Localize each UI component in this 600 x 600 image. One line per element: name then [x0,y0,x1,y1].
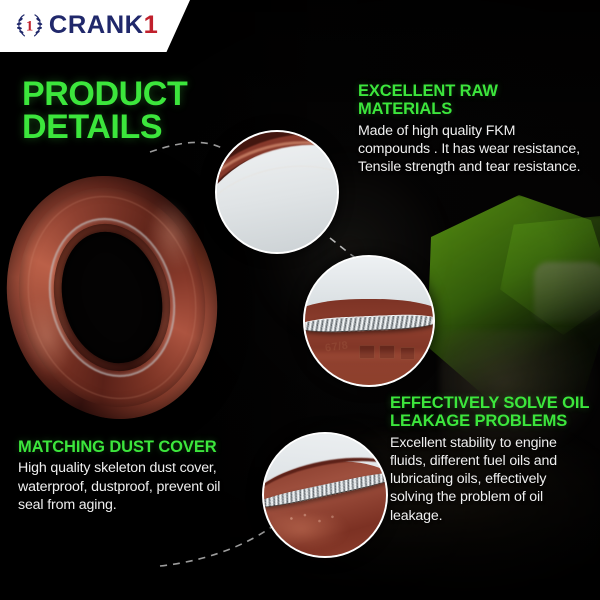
feature-heading: EFFECTIVELY SOLVE OIL LEAKAGE PROBLEMS [390,394,590,431]
feature-body: Excellent stability to engine fluids, di… [390,434,590,525]
laurel-wreath-number-one-icon: 1 [14,11,45,39]
feature-heading: MATCHING DUST COVER [18,438,236,456]
feature-effectively-solve-oil-leakage-problems: EFFECTIVELY SOLVE OIL LEAKAGE PROBLEMS E… [390,394,590,525]
callout-seal-lip [262,432,388,558]
feature-body: Made of high quality FKM compounds . It … [358,122,583,177]
page-title-line-2: DETAILS [22,111,187,144]
brand-logo: 1 CRANK1 [14,11,157,39]
callout-raw-material-edge [215,130,339,254]
feature-matching-dust-cover: MATCHING DUST COVER High quality skeleto… [18,438,236,514]
product-details-infographic: 67/8 [0,0,600,600]
page-title: PRODUCT DETAILS [22,78,187,144]
callout-garter-spring: 67/8 [303,255,435,387]
feature-heading: EXCELLENT RAW MATERIALS [358,82,583,119]
feature-excellent-raw-materials: EXCELLENT RAW MATERIALS Made of high qua… [358,82,583,176]
svg-text:1: 1 [26,18,33,34]
brand-name-main: CRANK [49,11,144,39]
brand-wordmark: CRANK1 [49,13,158,38]
feature-body: High quality skeleton dust cover, waterp… [18,459,236,514]
page-title-line-1: PRODUCT [22,78,187,111]
brand-name-suffix: 1 [144,11,159,39]
